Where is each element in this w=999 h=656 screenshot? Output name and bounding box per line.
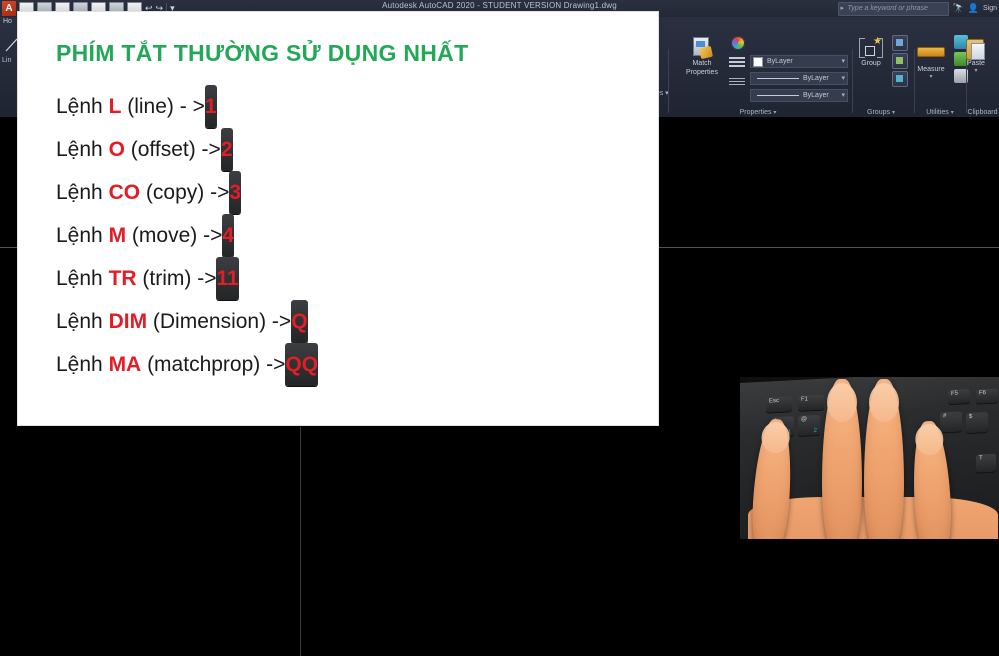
object-color-value: ByLayer xyxy=(767,58,793,65)
key-f5[interactable]: F5 xyxy=(948,389,970,404)
shortcut-prefix: Lệnh xyxy=(56,310,109,333)
measure-label: Measure xyxy=(916,66,946,73)
key-esc[interactable]: Esc xyxy=(766,396,792,412)
sign-in-label[interactable]: Sign xyxy=(983,5,997,12)
key-t[interactable]: T xyxy=(976,454,996,473)
shortcut-key: 11 xyxy=(216,257,238,300)
shortcut-command: MA xyxy=(109,353,142,376)
shortcut-command: O xyxy=(109,138,125,161)
panel-utilities-label[interactable]: Utilities ▾ xyxy=(914,109,966,116)
paste-label: Paste xyxy=(962,60,990,67)
chevron-down-icon[interactable]: ▾ xyxy=(951,110,954,116)
key-f5-label: F5 xyxy=(951,391,958,397)
shortcut-prefix: Lệnh xyxy=(56,224,109,247)
title-bar-right: ▸ Type a keyword or phrase 🔭 👤 Sign xyxy=(838,2,997,15)
key-esc-label: Esc xyxy=(769,398,779,405)
group-label: Group xyxy=(856,60,886,67)
shortcut-row: Lệnh TR (trim) -> 11 xyxy=(56,257,636,300)
color-swatch xyxy=(753,57,763,67)
chevron-down-icon[interactable]: ▾ xyxy=(773,110,776,116)
shortcut-row: Lệnh DIM (Dimension) -> Q xyxy=(56,300,636,343)
ruler-icon xyxy=(917,47,945,57)
panel-divider xyxy=(914,49,915,113)
match-properties-label-1: Match xyxy=(680,60,724,68)
tab-home[interactable]: Ho xyxy=(3,18,12,25)
panel-divider xyxy=(668,49,669,113)
lineweight-preview xyxy=(757,78,799,79)
object-color-wheel-icon[interactable] xyxy=(731,36,745,50)
key-f6[interactable]: F6 xyxy=(976,388,998,403)
shortcut-key: 4 xyxy=(222,214,234,257)
shortcut-description: (move) -> xyxy=(126,224,222,247)
lineweight-value: ByLayer xyxy=(803,75,829,82)
group-icon: ★ xyxy=(859,37,883,59)
key-2-label: @ xyxy=(801,416,807,422)
shortcut-command: TR xyxy=(109,267,137,290)
object-color-combo[interactable]: ByLayer ▾ xyxy=(750,55,848,68)
shortcut-list: Lệnh L (line) - > 1Lệnh O (offset) -> 2L… xyxy=(56,85,636,386)
key-3-label: # xyxy=(943,413,946,419)
group-selection-icon[interactable] xyxy=(892,71,908,87)
panel-utilities-title: Utilities xyxy=(926,109,949,116)
shortcut-key: 1 xyxy=(205,85,217,128)
linetype-combo[interactable]: ByLayer ▾ xyxy=(750,89,848,102)
user-icon[interactable]: 👤 xyxy=(968,4,979,13)
shortcut-description: (Dimension) -> xyxy=(147,310,291,333)
shortcut-prefix: Lệnh xyxy=(56,95,109,118)
group-button[interactable]: ★ Group xyxy=(856,37,886,67)
search-placeholder: Type a keyword or phrase xyxy=(848,5,928,12)
group-tools xyxy=(892,35,908,89)
key-4-label: $ xyxy=(969,414,972,420)
panel-groups: ★ Group Groups ▾ xyxy=(852,31,910,117)
shortcut-prefix: Lệnh xyxy=(56,353,109,376)
line-tool-label: Lin xyxy=(2,57,11,64)
shortcut-description: (copy) -> xyxy=(140,181,229,204)
match-properties-icon xyxy=(691,37,713,59)
key-2-sublabel: 2 xyxy=(814,428,817,434)
shortcut-card: PHÍM TẮT THƯỜNG SỬ DỤNG NHẤT Lệnh L (lin… xyxy=(18,12,658,425)
search-dropdown-icon[interactable]: ▸ xyxy=(841,5,845,12)
shortcut-row: Lệnh MA (matchprop) -> QQ xyxy=(56,343,636,386)
search-input[interactable]: ▸ Type a keyword or phrase xyxy=(838,2,949,16)
shortcut-row: Lệnh CO (copy) -> 3 xyxy=(56,171,636,214)
key-f6-label: F6 xyxy=(979,390,986,396)
chevron-down-icon[interactable]: ▾ xyxy=(841,92,845,99)
finger-ring xyxy=(864,379,904,539)
shortcut-row: Lệnh O (offset) -> 2 xyxy=(56,128,636,171)
shortcut-description: (trim) -> xyxy=(137,267,217,290)
group-edit-icon[interactable] xyxy=(892,53,908,69)
shortcut-command: CO xyxy=(109,181,141,204)
shortcut-row: Lệnh M (move) -> 4 xyxy=(56,214,636,257)
panel-clipboard: Paste ▾ Clipboard xyxy=(966,31,999,117)
chevron-down-icon[interactable]: ▾ xyxy=(841,75,845,82)
panel-properties-label[interactable]: Properties ▾ xyxy=(668,109,848,116)
shortcut-prefix: Lệnh xyxy=(56,181,109,204)
chevron-down-icon[interactable]: ▾ xyxy=(962,67,990,74)
clipboard-icon xyxy=(966,37,986,59)
chevron-down-icon[interactable]: ▾ xyxy=(841,58,845,65)
shortcut-key: Q xyxy=(291,300,307,343)
key-f1-label: F1 xyxy=(801,396,808,402)
measure-button[interactable]: Measure ▾ xyxy=(916,47,946,80)
key-3[interactable]: # xyxy=(940,411,962,432)
card-title: PHÍM TẮT THƯỜNG SỬ DỤNG NHẤT xyxy=(56,40,468,67)
keyboard-webcam-overlay: Esc F1 F5 F6 ! 1 @ 2 # $ xyxy=(740,377,999,539)
shortcut-key: 2 xyxy=(221,128,233,171)
shortcut-key: 3 xyxy=(229,171,241,214)
shortcut-description: (line) - > xyxy=(121,95,204,118)
shortcut-command: DIM xyxy=(109,310,148,333)
shortcut-key: QQ xyxy=(285,343,318,386)
match-properties-button[interactable]: Match Properties xyxy=(680,37,724,77)
finger-middle xyxy=(822,379,862,539)
chevron-down-icon[interactable]: ▾ xyxy=(916,73,946,80)
paste-button[interactable]: Paste ▾ xyxy=(962,37,990,74)
screen-root: A ↩ ↪ ▾ Autodesk AutoCAD 2020 - STUDENT … xyxy=(0,0,999,539)
shortcut-command: M xyxy=(109,224,127,247)
shortcut-prefix: Lệnh xyxy=(56,138,109,161)
chevron-down-icon[interactable]: ▾ xyxy=(892,110,895,116)
key-t-label: T xyxy=(979,455,983,461)
linetype-value: ByLayer xyxy=(803,92,829,99)
linetype-icon xyxy=(729,78,745,87)
panel-groups-label[interactable]: Groups ▾ xyxy=(852,109,910,116)
shortcut-description: (matchprop) -> xyxy=(141,353,285,376)
linetype-preview xyxy=(757,95,799,96)
panel-clipboard-label: Clipboard xyxy=(966,109,999,116)
lineweight-combo[interactable]: ByLayer ▾ xyxy=(750,72,848,85)
shortcut-description: (offset) -> xyxy=(125,138,221,161)
panel-properties-title: Properties xyxy=(740,109,772,116)
shortcut-command: L xyxy=(109,95,122,118)
shortcut-prefix: Lệnh xyxy=(56,267,109,290)
key-f1[interactable]: F1 xyxy=(798,395,824,411)
panel-utilities: Measure ▾ Utilities ▾ xyxy=(914,31,966,117)
lineweight-icon xyxy=(729,57,745,69)
ungroup-icon[interactable] xyxy=(892,35,908,51)
panel-properties: Match Properties ByLayer ▾ ByLaye xyxy=(668,31,848,117)
panel-divider xyxy=(852,49,853,113)
match-properties-label-2: Properties xyxy=(680,69,724,77)
shortcut-row: Lệnh L (line) - > 1 xyxy=(56,85,636,128)
panel-groups-title: Groups xyxy=(867,109,890,116)
binoculars-icon[interactable]: 🔭 xyxy=(953,4,964,13)
key-2[interactable]: @ 2 xyxy=(798,415,820,436)
canvas-vertical-line xyxy=(300,427,301,656)
key-4[interactable]: $ xyxy=(966,412,988,433)
